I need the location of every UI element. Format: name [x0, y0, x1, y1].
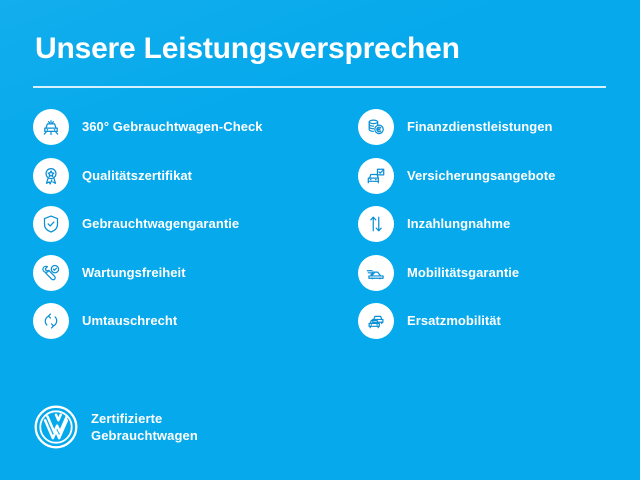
- benefit-label: Wartungsfreiheit: [82, 265, 186, 281]
- car-inspection-icon: [33, 109, 69, 145]
- volkswagen-logo-icon: [33, 404, 79, 450]
- benefit-label: Inzahlungnahme: [407, 216, 510, 232]
- brand-lockup-line-2: Gebrauchtwagen: [91, 427, 198, 444]
- benefit-item-mobilitaetsgarantie[interactable]: Mobilitätsgarantie: [358, 255, 640, 291]
- benefits-column-left: 360° Gebrauchtwagen-Check Qualitätszerti…: [33, 109, 333, 352]
- benefit-item-wartungsfreiheit[interactable]: Wartungsfreiheit: [33, 255, 333, 291]
- benefit-label: Qualitätszertifikat: [82, 168, 192, 184]
- leistungsversprechen-panel: Unsere Leistungsversprechen 360° Gebrauc…: [0, 0, 640, 480]
- arrows-up-down-icon: [358, 206, 394, 242]
- exchange-arrows-icon: [33, 303, 69, 339]
- page-title: Unsere Leistungsversprechen: [35, 31, 460, 67]
- benefit-label: Mobilitätsgarantie: [407, 265, 519, 281]
- benefit-label: Gebrauchtwagengarantie: [82, 216, 239, 232]
- shield-check-icon: [33, 206, 69, 242]
- car-document-check-icon: [358, 158, 394, 194]
- brand-lockup: Zertifizierte Gebrauchtwagen: [33, 404, 198, 450]
- title-divider: [33, 86, 606, 88]
- benefit-label: Umtauschrecht: [82, 313, 177, 329]
- benefits-column-right: Finanzdienstleistungen Versicherungsange…: [358, 109, 640, 352]
- benefit-item-gebrauchtwagengarantie[interactable]: Gebrauchtwagengarantie: [33, 206, 333, 242]
- two-cars-icon: [358, 303, 394, 339]
- benefit-item-qualitaetszertifikat[interactable]: Qualitätszertifikat: [33, 158, 333, 194]
- car-check-icon: [358, 255, 394, 291]
- wrench-check-icon: [33, 255, 69, 291]
- benefit-label: Versicherungsangebote: [407, 168, 555, 184]
- benefit-item-versicherungsangebote[interactable]: Versicherungsangebote: [358, 158, 640, 194]
- benefit-item-finanzdienstleistungen[interactable]: Finanzdienstleistungen: [358, 109, 640, 145]
- brand-lockup-line-1: Zertifizierte: [91, 410, 198, 427]
- benefit-item-gebrauchtwagen-check[interactable]: 360° Gebrauchtwagen-Check: [33, 109, 333, 145]
- benefit-label: Ersatzmobilität: [407, 313, 501, 329]
- benefit-label: Finanzdienstleistungen: [407, 119, 553, 135]
- benefit-label: 360° Gebrauchtwagen-Check: [82, 119, 263, 135]
- brand-lockup-text: Zertifizierte Gebrauchtwagen: [91, 410, 198, 444]
- award-rosette-icon: [33, 158, 69, 194]
- benefit-item-ersatzmobilitaet[interactable]: Ersatzmobilität: [358, 303, 640, 339]
- benefit-item-inzahlungnahme[interactable]: Inzahlungnahme: [358, 206, 640, 242]
- benefit-item-umtauschrecht[interactable]: Umtauschrecht: [33, 303, 333, 339]
- coins-euro-icon: [358, 109, 394, 145]
